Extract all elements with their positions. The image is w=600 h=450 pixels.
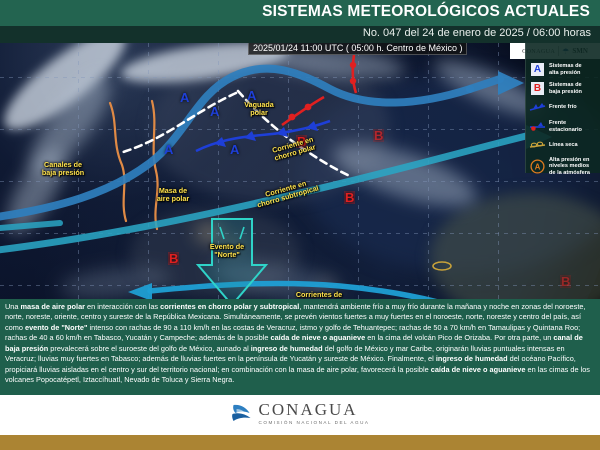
legend-items: A Sistemas de alta presión B Sistemas de… bbox=[526, 60, 600, 178]
low-level-current-arrowhead bbox=[128, 283, 152, 299]
polar-trough-dashed bbox=[238, 91, 352, 177]
high-pressure-marker: A bbox=[230, 143, 239, 156]
subtropical-jet-stream bbox=[0, 135, 530, 251]
forecast-description: Una masa de aire polar en interacción co… bbox=[0, 299, 600, 395]
legend-item-frente-estacionario[interactable]: Frente estacionario bbox=[526, 117, 600, 136]
page-title: SISTEMAS METEOROLÓGICOS ACTUALES bbox=[262, 3, 590, 21]
legend-label: Frente estacionario bbox=[549, 120, 582, 133]
footer-brand: CONAGUA COMISIÓN NACIONAL DEL AGUA bbox=[231, 400, 370, 426]
legend-item-linea-seca[interactable]: Línea seca bbox=[526, 136, 600, 155]
mid-level-high-icon: A bbox=[529, 159, 546, 174]
warm-front-line-ne bbox=[353, 55, 356, 93]
high-pressure-marker: A bbox=[210, 105, 219, 118]
dry-line-icon bbox=[529, 138, 546, 153]
page-footer: CONAGUA COMISIÓN NACIONAL DEL AGUA bbox=[0, 395, 600, 435]
cold-front-icon bbox=[529, 100, 546, 115]
warm-front-bump-1 bbox=[289, 114, 296, 121]
bulletin-number: No. 047 del 24 de enero de 2025 / 06:00 … bbox=[363, 27, 591, 39]
high-pressure-marker: A bbox=[180, 91, 189, 104]
low-pressure-marker: B bbox=[373, 129, 384, 142]
high-pressure-marker: A bbox=[164, 143, 173, 156]
high-pressure-marker: A bbox=[247, 89, 256, 102]
warm-front-bump-3 bbox=[350, 62, 356, 68]
low-pressure-marker: B bbox=[168, 252, 179, 265]
low-level-current bbox=[150, 283, 560, 299]
legend-item-baja-presion[interactable]: B Sistemas de baja presión bbox=[526, 79, 600, 98]
low-pressure-icon: B bbox=[529, 81, 546, 96]
low-pressure-marker: B bbox=[296, 135, 307, 148]
footer-accent-bar bbox=[0, 435, 600, 450]
legend-label: Sistemas de baja presión bbox=[549, 82, 582, 95]
legend-label: Frente frío bbox=[549, 104, 577, 110]
high-pressure-icon: A bbox=[529, 62, 546, 77]
warm-front-bump-4 bbox=[350, 78, 356, 84]
warm-front-bump-2 bbox=[305, 104, 312, 111]
legend-label: Sistemas de alta presión bbox=[549, 63, 582, 76]
page-header: SISTEMAS METEOROLÓGICOS ACTUALES bbox=[0, 0, 600, 26]
jet-stub-west bbox=[0, 223, 60, 228]
legend-item-frente-frio[interactable]: Frente frío bbox=[526, 98, 600, 117]
low-pressure-marker: B bbox=[344, 191, 355, 204]
stationary-front-icon bbox=[529, 119, 546, 134]
map-timestamp: 2025/01/24 11:00 UTC ( 05:00 h. Centro d… bbox=[248, 43, 467, 55]
map-legend: A Sistemas de alta presión B Sistemas de… bbox=[525, 43, 600, 173]
low-pressure-marker: B bbox=[560, 275, 571, 288]
legend-item-alta-presion[interactable]: A Sistemas de alta presión bbox=[526, 60, 600, 79]
conagua-eagle-wave-icon bbox=[231, 400, 253, 426]
bulletin-subheader: No. 047 del 24 de enero de 2025 / 06:00 … bbox=[0, 26, 600, 43]
weather-bulletin-page: SISTEMAS METEOROLÓGICOS ACTUALES No. 047… bbox=[0, 0, 600, 450]
polar-jet-tail bbox=[470, 79, 500, 89]
warm-front-line bbox=[282, 97, 324, 125]
footer-wordmark: CONAGUA bbox=[259, 401, 370, 418]
forecast-paragraph: Una masa de aire polar en interacción co… bbox=[5, 302, 594, 385]
legend-item-alta-presion-niveles-medios[interactable]: A Alta presión en niveles medios de la a… bbox=[526, 155, 600, 178]
polar-jet-arrowhead bbox=[498, 71, 524, 95]
jet-stream-group bbox=[0, 43, 600, 299]
legend-label: Línea seca bbox=[549, 142, 578, 148]
legend-label: Alta presión en niveles medios de la atm… bbox=[549, 157, 590, 176]
svg-text:A: A bbox=[535, 163, 541, 172]
satellite-map[interactable]: A A A A A B B B B B Canales de baja pres… bbox=[0, 43, 600, 299]
footer-subtitle: COMISIÓN NACIONAL DEL AGUA bbox=[259, 420, 370, 425]
